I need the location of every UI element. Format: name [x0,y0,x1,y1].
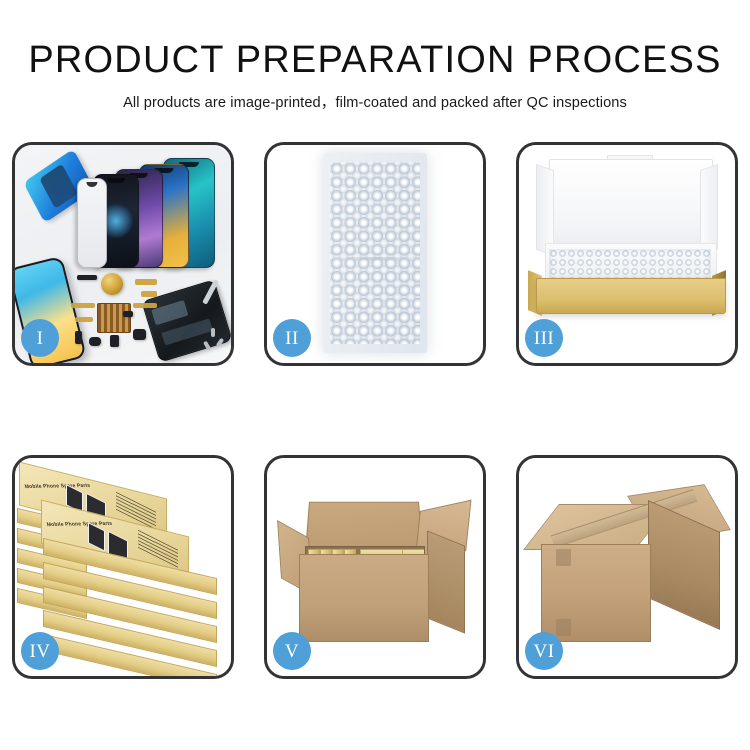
phone-display-glass [77,178,107,268]
flex-cable-4 [133,303,157,308]
step-panel-2[interactable]: II [264,142,486,366]
page-subtitle: All products are image-printed，film-coat… [0,91,750,112]
step-panel-3[interactable]: III [516,142,738,366]
step-badge-2: II [273,319,311,357]
step-badge-1: I [21,319,59,357]
connector-grid-part [97,303,131,333]
step-panel-1[interactable]: I [12,142,234,366]
steps-grid: I II [12,142,738,679]
camera-part [133,329,146,340]
box-base-front [536,278,726,314]
flex-cable-5 [75,317,93,322]
bubble-wrap-seam [328,257,422,260]
step-badge-6: VI [525,632,563,670]
retail-box-label-top: Mobile Phone Spare Parts [24,483,91,490]
header: PRODUCT PREPARATION PROCESS All products… [0,0,750,112]
bubble-pattern-back [330,162,420,344]
step-panel-4[interactable]: Mobile Phone Spare Parts Mobile Phone Sp… [12,455,234,679]
page-title: PRODUCT PREPARATION PROCESS [0,38,750,82]
battery-part [110,335,119,347]
speaker-part [77,275,97,280]
step-panel-5[interactable]: V [264,455,486,679]
carton-handle-tab-bottom [556,619,571,636]
screw-1 [211,328,215,337]
sealed-carton-front-face [541,544,651,642]
phone-display-stack [77,153,231,268]
step-badge-4: IV [21,632,59,670]
flex-cable-1 [135,279,157,285]
carton-front-face [299,554,429,642]
carton-right-side [427,530,465,633]
retail-box-label-second: Mobile Phone Spare Parts [46,521,113,528]
flex-cable-2 [141,291,157,297]
step-badge-5: V [273,632,311,670]
box-bubble-contents [549,249,711,279]
vibrator-part [89,337,101,346]
copper-coil-part [101,273,123,295]
carton-handle-tab-top [556,549,571,566]
bubble-wrap-sleeve [323,153,427,353]
step-badge-3: III [525,319,563,357]
box-lid-back [549,159,713,253]
button-part [123,311,133,317]
sim-tray-part [75,331,82,344]
flex-cable-3 [71,303,95,308]
step-panel-6[interactable]: VI [516,455,738,679]
infographic-sheet: PRODUCT PREPARATION PROCESS All products… [0,0,750,750]
